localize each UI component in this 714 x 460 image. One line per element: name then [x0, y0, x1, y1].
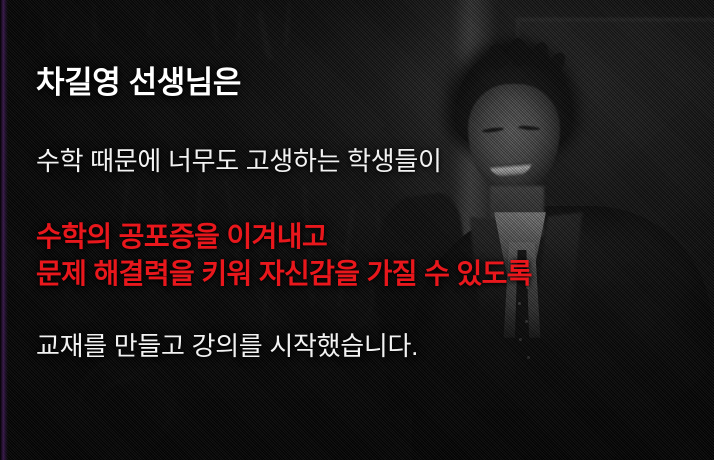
banner-emphasis-line-2: 문제 해결력을 키워 자신감을 가질 수 있도록 — [36, 252, 532, 292]
banner-emphasis-line-1: 수학의 공포증을 이겨내고 — [36, 215, 327, 255]
banner-headline: 차길영 선생님은 — [36, 57, 241, 102]
banner-subline: 수학 때문에 너무도 고생하는 학생들이 — [36, 141, 442, 178]
promo-banner: 차길영 선생님은 수학 때문에 너무도 고생하는 학생들이 수학의 공포증을 이… — [0, 0, 714, 460]
copy-block: 차길영 선생님은 수학 때문에 너무도 고생하는 학생들이 수학의 공포증을 이… — [36, 0, 636, 460]
banner-closing-line: 교재를 만들고 강의를 시작했습니다. — [36, 326, 418, 363]
